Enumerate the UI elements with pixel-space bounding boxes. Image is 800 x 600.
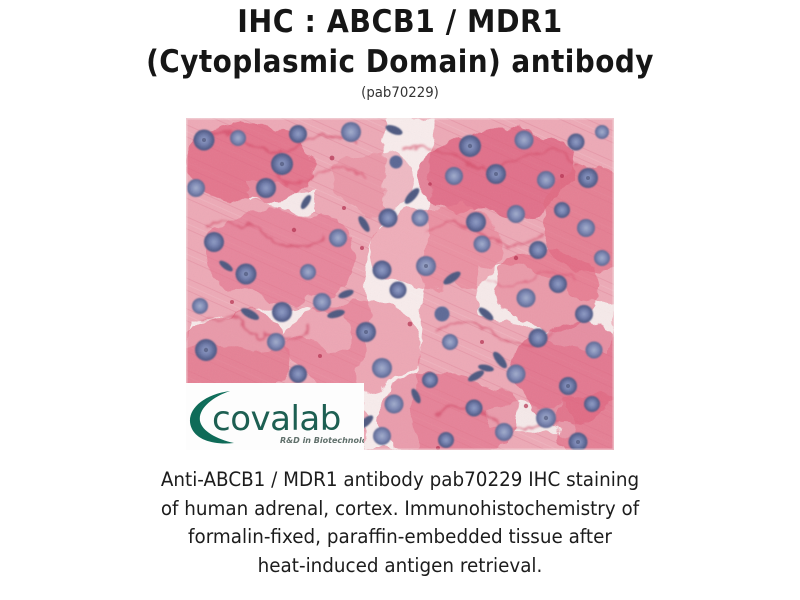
catalog-number: (pab70229) bbox=[20, 84, 780, 102]
ihc-micrograph: covalab R&D in Biotechnology bbox=[186, 118, 614, 450]
figure-page: IHC : ABCB1 / MDR1 (Cytoplasmic Domain) … bbox=[0, 0, 800, 600]
title-line-1: IHC : ABCB1 / MDR1 bbox=[32, 2, 768, 42]
title-line-2: (Cytoplasmic Domain) antibody bbox=[40, 42, 760, 83]
covalab-watermark: covalab R&D in Biotechnology bbox=[186, 383, 364, 450]
covalab-wordmark-text: covalab bbox=[212, 399, 341, 439]
caption-line-2: of human adrenal, cortex. Immunohistoche… bbox=[80, 495, 719, 524]
figure-caption: Anti-ABCB1 / MDR1 antibody pab70229 IHC … bbox=[80, 466, 719, 580]
caption-line-4: heat-induced antigen retrieval. bbox=[80, 552, 719, 581]
caption-line-3: formalin-fixed, paraffin-embedded tissue… bbox=[80, 523, 719, 552]
page-title: IHC : ABCB1 / MDR1 (Cytoplasmic Domain) … bbox=[0, 2, 800, 102]
covalab-logo: covalab R&D in Biotechnology bbox=[186, 383, 364, 450]
caption-line-1: Anti-ABCB1 / MDR1 antibody pab70229 IHC … bbox=[80, 466, 719, 495]
covalab-tagline-text: R&D in Biotechnology bbox=[280, 436, 364, 445]
